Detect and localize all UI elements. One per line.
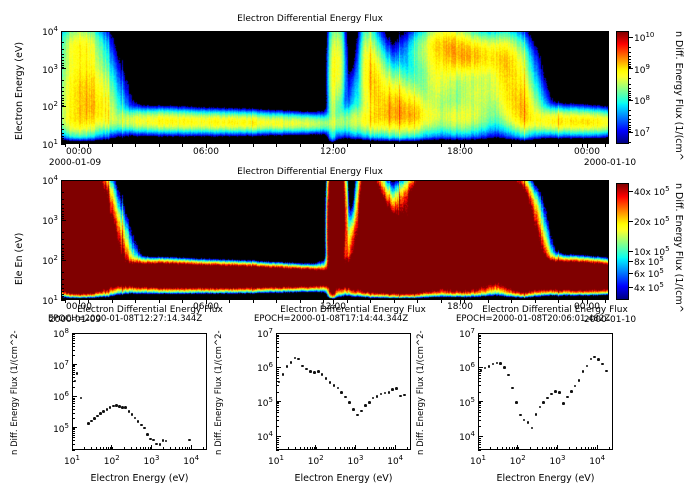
sub3-ylabel: n Diff. Energy Flux (1/(cm^2- xyxy=(416,330,426,455)
panel1-xtick-2: 12:00 xyxy=(311,147,355,157)
tick-mark xyxy=(347,447,348,450)
panel1-xtick-1: 06:00 xyxy=(184,147,228,157)
tick-mark xyxy=(629,115,631,116)
tick-mark xyxy=(124,447,125,450)
tick-mark xyxy=(347,144,348,147)
tick-mark xyxy=(106,447,107,450)
tick-mark xyxy=(307,447,308,450)
sub1-ytick-1: 107 xyxy=(39,359,69,372)
tick-mark xyxy=(72,447,73,450)
tick-mark xyxy=(276,410,279,411)
sub1-ytick-0: 108 xyxy=(39,327,69,340)
tick-mark xyxy=(72,435,75,436)
tick-mark xyxy=(394,144,395,147)
tick-mark xyxy=(629,37,633,38)
tick-mark xyxy=(72,399,75,400)
tick-mark xyxy=(276,442,279,443)
tick-mark xyxy=(61,106,66,107)
data-point xyxy=(188,439,191,442)
data-point xyxy=(391,388,394,391)
tick-mark xyxy=(61,63,64,64)
tick-mark xyxy=(511,300,512,303)
tick-mark xyxy=(417,144,418,147)
tick-mark xyxy=(629,78,631,79)
panel2-ytick-3: 101 xyxy=(28,294,58,307)
tick-mark xyxy=(253,300,254,303)
tick-mark xyxy=(629,56,631,57)
tick-mark xyxy=(582,144,583,147)
tick-mark xyxy=(136,447,137,450)
data-point xyxy=(403,394,406,397)
tick-mark xyxy=(478,426,481,427)
sub3-xtick-0: 101 xyxy=(458,454,498,467)
tick-mark xyxy=(478,405,481,406)
data-point xyxy=(93,417,96,420)
sub1-ytick-2: 106 xyxy=(39,390,69,403)
data-point xyxy=(301,365,304,368)
tick-mark xyxy=(72,340,75,341)
data-point xyxy=(515,401,518,404)
tick-mark xyxy=(72,366,75,367)
tick-mark xyxy=(61,199,64,200)
tick-mark xyxy=(61,124,64,125)
panel2-ytick-0: 104 xyxy=(28,174,58,187)
sub2-xtick-2: 103 xyxy=(335,454,375,467)
tick-mark xyxy=(585,447,586,450)
tick-mark xyxy=(131,447,132,450)
data-point xyxy=(566,396,569,399)
tick-mark xyxy=(629,84,631,85)
figure-root: Electron Differential Energy Flux Electr… xyxy=(0,0,697,492)
tick-mark xyxy=(295,447,296,450)
tick-mark xyxy=(478,416,481,417)
tick-mark xyxy=(61,204,64,205)
panel2-colorbar xyxy=(616,183,629,300)
tick-mark xyxy=(72,396,75,397)
sub2-ylabel: n Diff. Energy Flux (1/(cm^2- xyxy=(214,330,224,455)
panel1-xtick-0: 00:00 xyxy=(57,147,101,157)
tick-mark xyxy=(537,447,538,450)
tick-mark xyxy=(389,447,390,450)
tick-mark xyxy=(370,144,371,147)
panel1-cbtick-0: 1010 xyxy=(634,31,654,44)
tick-mark xyxy=(323,144,324,147)
tick-mark xyxy=(61,57,64,58)
tick-mark xyxy=(344,447,345,450)
tick-mark xyxy=(551,447,552,450)
tick-mark xyxy=(478,369,481,370)
tick-mark xyxy=(379,447,380,450)
tick-mark xyxy=(629,251,633,252)
tick-mark xyxy=(61,232,64,233)
tick-mark xyxy=(629,261,633,262)
data-point xyxy=(558,391,561,394)
tick-mark xyxy=(478,403,481,404)
tick-mark xyxy=(316,447,317,450)
tick-mark xyxy=(478,392,481,393)
tick-mark xyxy=(276,407,279,408)
tick-mark xyxy=(576,447,577,450)
sub2-ytick-2: 105 xyxy=(243,396,273,409)
data-point xyxy=(562,402,565,405)
panel2-colorbar-label-wrap: n Diff. Energy Flux (1/(cm^ xyxy=(684,183,697,194)
tick-mark xyxy=(72,431,75,432)
panel1-cbtick-3: 107 xyxy=(634,126,650,139)
tick-mark xyxy=(61,31,66,32)
tick-mark xyxy=(61,296,64,297)
data-point xyxy=(550,393,553,396)
tick-mark xyxy=(478,357,481,358)
tick-mark xyxy=(629,52,631,53)
data-point xyxy=(519,414,522,417)
tick-mark xyxy=(185,447,186,450)
sub3-epoch: EPOCH=2000-01-08T20:06:01.482Z xyxy=(456,314,610,324)
tick-mark xyxy=(253,144,254,147)
tick-mark xyxy=(72,450,75,451)
data-point xyxy=(535,413,538,416)
tick-mark xyxy=(497,447,498,450)
data-point xyxy=(146,433,149,436)
tick-mark xyxy=(276,447,277,450)
tick-mark xyxy=(72,433,75,434)
data-point xyxy=(124,406,127,409)
tick-mark xyxy=(591,447,592,450)
data-point xyxy=(503,366,506,369)
tick-mark xyxy=(276,402,279,403)
panel2-cbtick-1: 20x 105 xyxy=(634,215,670,228)
tick-mark xyxy=(276,385,279,386)
tick-mark xyxy=(535,300,536,303)
tick-mark xyxy=(61,272,64,273)
data-point xyxy=(162,439,165,442)
tick-mark xyxy=(112,144,113,147)
sub3-xtick-3: 104 xyxy=(577,454,617,467)
tick-mark xyxy=(333,144,334,148)
tick-mark xyxy=(276,420,279,421)
sub1-plot xyxy=(72,333,207,450)
tick-mark xyxy=(61,256,64,257)
tick-mark xyxy=(203,447,204,450)
tick-mark xyxy=(490,447,491,450)
data-point xyxy=(305,368,308,371)
tick-mark xyxy=(383,447,384,450)
tick-mark xyxy=(72,336,75,337)
tick-mark xyxy=(61,103,64,104)
tick-mark xyxy=(61,129,64,130)
tick-mark xyxy=(441,144,442,147)
tick-mark xyxy=(96,447,97,450)
tick-mark xyxy=(554,447,555,450)
tick-mark xyxy=(478,338,481,339)
tick-mark xyxy=(629,68,633,69)
data-point xyxy=(570,390,573,393)
tick-mark xyxy=(61,91,64,92)
tick-mark xyxy=(478,447,479,450)
tick-mark xyxy=(276,436,279,437)
tick-mark xyxy=(72,334,75,335)
tick-mark xyxy=(323,300,324,303)
tick-mark xyxy=(300,144,301,147)
tick-mark xyxy=(288,447,289,450)
tick-mark xyxy=(629,64,631,65)
tick-mark xyxy=(478,381,481,382)
tick-mark xyxy=(61,140,64,141)
tick-mark xyxy=(460,144,461,148)
tick-mark xyxy=(587,300,588,304)
tick-mark xyxy=(506,447,507,450)
tick-mark xyxy=(593,447,594,450)
tick-mark xyxy=(276,343,279,344)
tick-mark xyxy=(229,144,230,147)
tick-mark xyxy=(276,403,279,404)
data-point xyxy=(102,410,105,413)
sub1-xtick-1: 102 xyxy=(92,454,132,467)
data-point xyxy=(87,422,90,425)
tick-mark xyxy=(549,447,550,450)
tick-mark xyxy=(629,47,631,48)
data-point xyxy=(597,358,600,361)
tick-mark xyxy=(276,378,279,379)
tick-mark xyxy=(61,251,64,252)
tick-mark xyxy=(478,436,481,437)
tick-mark xyxy=(61,138,64,139)
tick-mark xyxy=(276,405,279,406)
tick-mark xyxy=(276,300,277,303)
panel1-ytick-2: 102 xyxy=(28,100,58,113)
tick-mark xyxy=(79,300,80,304)
sub2-ytick-3: 104 xyxy=(243,430,273,443)
panel2-cbtick-5: 4x 105 xyxy=(634,281,664,294)
sub2-epoch: EPOCH=2000-01-08T17:14:44.344Z xyxy=(254,314,408,324)
tick-mark xyxy=(300,447,301,450)
tick-mark xyxy=(159,144,160,147)
sub2-xlabel: Electron Energy (eV) xyxy=(276,473,411,484)
tick-mark xyxy=(61,98,64,99)
tick-mark xyxy=(581,447,582,450)
panel1-cbtick-2: 108 xyxy=(634,94,650,107)
tick-mark xyxy=(478,410,481,411)
tick-mark xyxy=(629,122,631,123)
panel1-xtick-4: 00:00 xyxy=(565,147,609,157)
tick-mark xyxy=(276,333,279,334)
tick-mark xyxy=(276,373,279,374)
sub1-ylabel: n Diff. Energy Flux (1/(cm^2- xyxy=(10,330,20,455)
tick-mark xyxy=(386,447,387,450)
tick-mark xyxy=(569,447,570,450)
tick-mark xyxy=(151,447,152,450)
tick-mark xyxy=(276,336,279,337)
data-point xyxy=(309,370,312,373)
tick-mark xyxy=(61,244,64,245)
panel2-cbtick-0: 40x 105 xyxy=(634,185,670,198)
tick-mark xyxy=(441,300,442,303)
panel1-cbtick-1: 109 xyxy=(634,63,650,76)
tick-mark xyxy=(509,447,510,450)
tick-mark xyxy=(276,369,279,370)
tick-mark xyxy=(61,248,64,249)
tick-mark xyxy=(276,426,279,427)
sub3-ytick-3: 104 xyxy=(445,430,475,443)
data-point xyxy=(344,396,347,399)
tick-mark xyxy=(72,413,75,414)
tick-mark xyxy=(391,447,392,450)
tick-mark xyxy=(478,335,481,336)
tick-mark xyxy=(276,392,279,393)
tick-mark xyxy=(394,300,395,303)
tick-mark xyxy=(145,447,146,450)
tick-mark xyxy=(629,191,633,192)
tick-mark xyxy=(582,300,583,303)
sub1-xtick-0: 101 xyxy=(52,454,92,467)
tick-mark xyxy=(72,355,75,356)
tick-mark xyxy=(629,125,631,126)
tick-mark xyxy=(61,49,64,50)
tick-mark xyxy=(629,273,633,274)
data-point xyxy=(152,439,155,442)
data-point xyxy=(340,391,343,394)
data-point xyxy=(499,362,502,365)
panel1-colorbar xyxy=(616,31,629,144)
tick-mark xyxy=(61,254,64,255)
tick-mark xyxy=(61,220,66,221)
panel1-colorbar-label: n Diff. Energy Flux (1/(cm^ xyxy=(673,31,684,161)
panel1-ytick-0: 104 xyxy=(28,25,58,38)
tick-mark xyxy=(558,300,559,303)
data-point xyxy=(140,424,143,427)
tick-mark xyxy=(61,60,64,61)
tick-mark xyxy=(61,214,64,215)
tick-mark xyxy=(460,300,461,304)
tick-mark xyxy=(140,447,141,450)
tick-mark xyxy=(72,374,75,375)
sub3-ytick-0: 107 xyxy=(445,327,475,340)
tick-mark xyxy=(276,412,279,413)
tick-mark xyxy=(182,447,183,450)
tick-mark xyxy=(108,447,109,450)
tick-mark xyxy=(605,300,606,303)
tick-mark xyxy=(88,300,89,303)
sub3-xtick-2: 103 xyxy=(537,454,577,467)
data-point xyxy=(542,401,545,404)
tick-mark xyxy=(276,375,279,376)
data-point xyxy=(333,384,336,387)
data-point xyxy=(507,374,510,377)
tick-mark xyxy=(61,54,64,55)
tick-mark xyxy=(335,447,336,450)
tick-mark xyxy=(65,300,66,303)
tick-mark xyxy=(91,447,92,450)
tick-mark xyxy=(61,260,66,261)
tick-mark xyxy=(558,144,559,147)
tick-mark xyxy=(312,447,313,450)
tick-mark xyxy=(478,442,481,443)
tick-mark xyxy=(276,416,279,417)
data-point xyxy=(348,401,351,404)
sub1-xtick-2: 103 xyxy=(131,454,171,467)
tick-mark xyxy=(159,300,160,303)
sub1-epoch: EPOCH=2000-01-08T12:27:14.344Z xyxy=(48,314,202,324)
tick-mark xyxy=(61,284,64,285)
tick-mark xyxy=(276,357,279,358)
tick-mark xyxy=(61,208,64,209)
tick-mark xyxy=(328,447,329,450)
tick-mark xyxy=(514,447,515,450)
tick-mark xyxy=(276,335,279,336)
sub3-plot xyxy=(478,333,613,450)
tick-mark xyxy=(478,375,481,376)
tick-mark xyxy=(72,338,75,339)
tick-mark xyxy=(629,62,631,63)
tick-mark xyxy=(61,288,64,289)
tick-mark xyxy=(333,300,334,304)
tick-mark xyxy=(512,447,513,450)
panel2-colorbar-label: n Diff. Energy Flux (1/(cm^ xyxy=(673,183,684,313)
panel1-title: Electron Differential Energy Flux xyxy=(0,14,620,24)
tick-mark xyxy=(276,347,279,348)
tick-mark xyxy=(464,300,465,303)
tick-mark xyxy=(61,95,64,96)
sub3-xlabel: Electron Energy (eV) xyxy=(478,473,613,484)
sub1-ytick-low: 105 xyxy=(39,422,69,435)
tick-mark xyxy=(88,144,89,147)
data-point xyxy=(313,371,316,374)
tick-mark xyxy=(72,372,75,373)
sub2-ytick-0: 107 xyxy=(243,327,273,340)
tick-mark xyxy=(61,279,64,280)
tick-mark xyxy=(395,447,396,450)
sub3-ytick-2: 105 xyxy=(445,396,475,409)
tick-mark xyxy=(100,447,101,450)
panel1-ylabel: Electron Energy (eV) xyxy=(14,42,25,140)
tick-mark xyxy=(478,440,481,441)
tick-mark xyxy=(135,144,136,147)
tick-mark xyxy=(478,367,481,368)
sub3-ytick-1: 106 xyxy=(445,361,475,374)
tick-mark xyxy=(530,447,531,450)
panel2-cbtick-4: 6x 105 xyxy=(634,267,664,280)
tick-mark xyxy=(229,300,230,303)
tick-mark xyxy=(588,447,589,450)
tick-mark xyxy=(478,412,481,413)
tick-mark xyxy=(367,447,368,450)
tick-mark xyxy=(179,447,180,450)
tick-mark xyxy=(72,350,75,351)
tick-mark xyxy=(72,401,75,402)
tick-mark xyxy=(72,428,75,429)
tick-mark xyxy=(478,407,481,408)
tick-mark xyxy=(72,440,75,441)
tick-mark xyxy=(72,370,75,371)
tick-mark xyxy=(61,80,64,81)
tick-mark xyxy=(478,373,481,374)
panel1-colorbar-label-wrap: n Diff. Energy Flux (1/(cm^ xyxy=(684,31,697,42)
data-point xyxy=(368,401,371,404)
tick-mark xyxy=(464,144,465,147)
tick-mark xyxy=(546,447,547,450)
tick-mark xyxy=(629,110,631,111)
tick-mark xyxy=(478,351,481,352)
sub2-xtick-0: 101 xyxy=(256,454,296,467)
tick-mark xyxy=(355,447,356,450)
panel2-ylabel: Ele En (eV) xyxy=(14,233,25,285)
tick-mark xyxy=(276,367,279,368)
tick-mark xyxy=(488,300,489,303)
data-point xyxy=(554,390,557,393)
tick-mark xyxy=(276,351,279,352)
data-point xyxy=(399,395,402,398)
sub3-xtick-1: 102 xyxy=(498,454,538,467)
data-point xyxy=(128,410,131,413)
